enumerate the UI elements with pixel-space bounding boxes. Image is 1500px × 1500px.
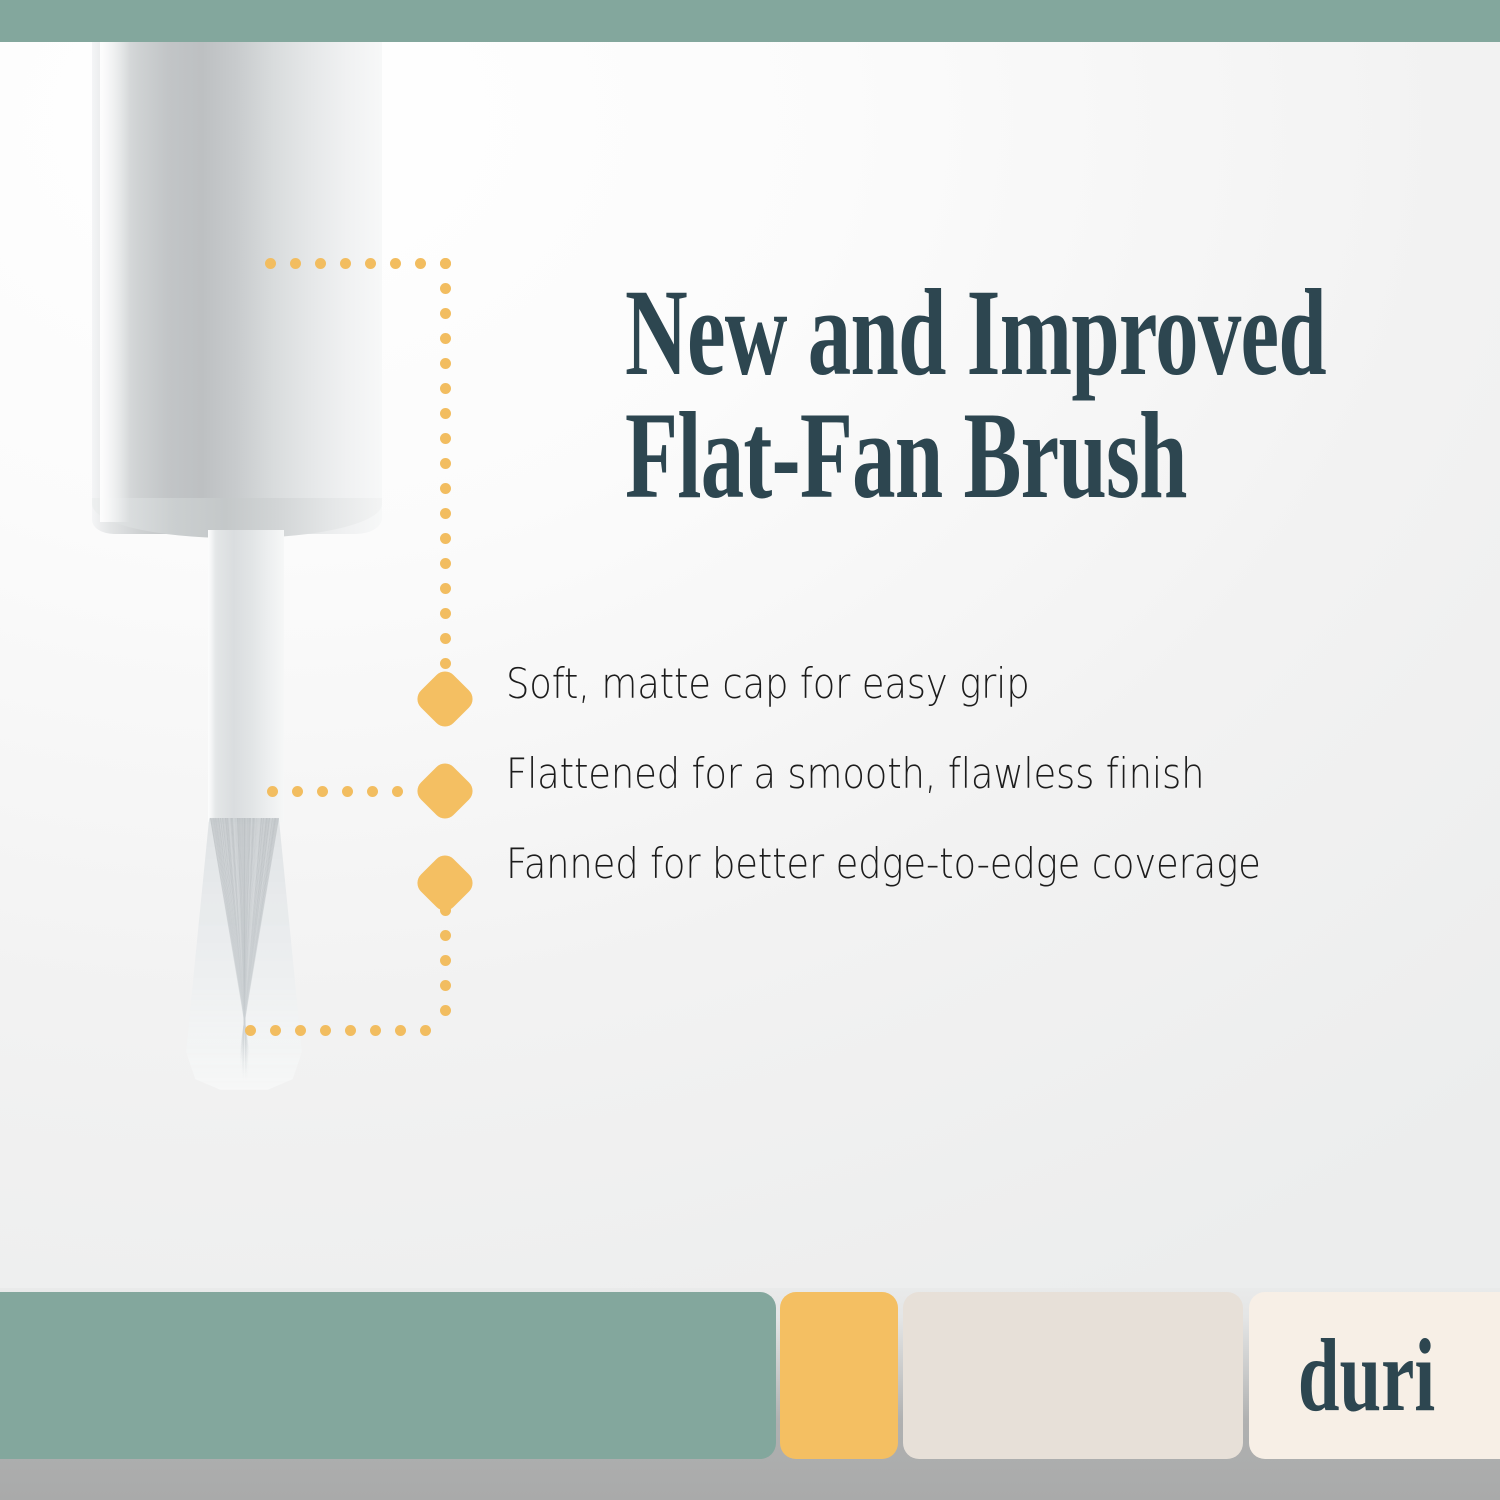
connector-dot xyxy=(440,333,451,344)
connector-dot xyxy=(320,1025,331,1036)
footer-swatch-beige xyxy=(903,1292,1243,1459)
list-item: Flattened for a smooth, flawless finish xyxy=(506,750,1456,840)
connector-dot xyxy=(267,786,278,797)
connector-dot xyxy=(440,358,451,369)
product-image xyxy=(0,0,470,1290)
footer-swatch-amber xyxy=(780,1292,898,1459)
connector-dot xyxy=(440,930,451,941)
footer-bar: duri xyxy=(0,1288,1500,1500)
connector-dot xyxy=(340,258,351,269)
connector-dot xyxy=(440,533,451,544)
connector-dot xyxy=(440,1005,451,1016)
infographic-canvas: New and Improved Flat-Fan Brush Soft, ma… xyxy=(0,0,1500,1500)
feature-label: Fanned for better edge-to-edge coverage xyxy=(506,840,1261,888)
connector-dot xyxy=(265,258,276,269)
headline-line-2: Flat-Fan Brush xyxy=(625,395,1185,518)
connector-dot xyxy=(345,1025,356,1036)
connector-dot xyxy=(440,608,451,619)
connector-dot xyxy=(315,258,326,269)
connector-dot xyxy=(390,258,401,269)
bottle-cap xyxy=(92,42,382,534)
connector-dot xyxy=(440,258,451,269)
connector-dot xyxy=(440,558,451,569)
bottle-cap-highlight xyxy=(100,42,130,522)
connector-dot xyxy=(292,786,303,797)
brush-stem-highlight xyxy=(208,530,215,822)
connector-dot xyxy=(440,658,451,669)
connector-dot xyxy=(317,786,328,797)
feature-list: Soft, matte cap for easy grip Flattened … xyxy=(506,660,1456,930)
page-title: New and Improved Flat-Fan Brush xyxy=(625,272,1185,518)
connector-dot xyxy=(270,1025,281,1036)
feature-label: Soft, matte cap for easy grip xyxy=(506,660,1030,708)
connector-dot xyxy=(440,483,451,494)
connector-dot xyxy=(440,308,451,319)
connector-dot xyxy=(395,1025,406,1036)
headline-line-1: New and Improved xyxy=(625,264,1326,401)
connector-dot xyxy=(365,258,376,269)
feature-label: Flattened for a smooth, flawless finish xyxy=(506,750,1204,798)
connector-dot xyxy=(440,383,451,394)
connector-dot xyxy=(392,786,403,797)
connector-dot xyxy=(420,1025,431,1036)
connector-dot xyxy=(440,633,451,644)
list-item: Soft, matte cap for easy grip xyxy=(506,660,1456,750)
connector-dot xyxy=(415,258,426,269)
connector-dot xyxy=(370,1025,381,1036)
connector-dot xyxy=(245,1025,256,1036)
footer-swatch-sage xyxy=(0,1292,776,1459)
connector-dot xyxy=(440,980,451,991)
brand-logo: duri xyxy=(1282,1292,1451,1459)
connector-dot xyxy=(440,458,451,469)
connector-dot xyxy=(290,258,301,269)
connector-dot xyxy=(367,786,378,797)
connector-dot xyxy=(440,955,451,966)
connector-dot xyxy=(440,408,451,419)
list-item: Fanned for better edge-to-edge coverage xyxy=(506,840,1456,930)
brush-stem xyxy=(208,530,284,822)
connector-dot xyxy=(440,433,451,444)
connector-dot xyxy=(440,283,451,294)
brush-bristle-fibers xyxy=(186,818,302,1090)
connector-dot xyxy=(342,786,353,797)
connector-dot xyxy=(440,508,451,519)
connector-dot xyxy=(440,583,451,594)
connector-dot xyxy=(295,1025,306,1036)
